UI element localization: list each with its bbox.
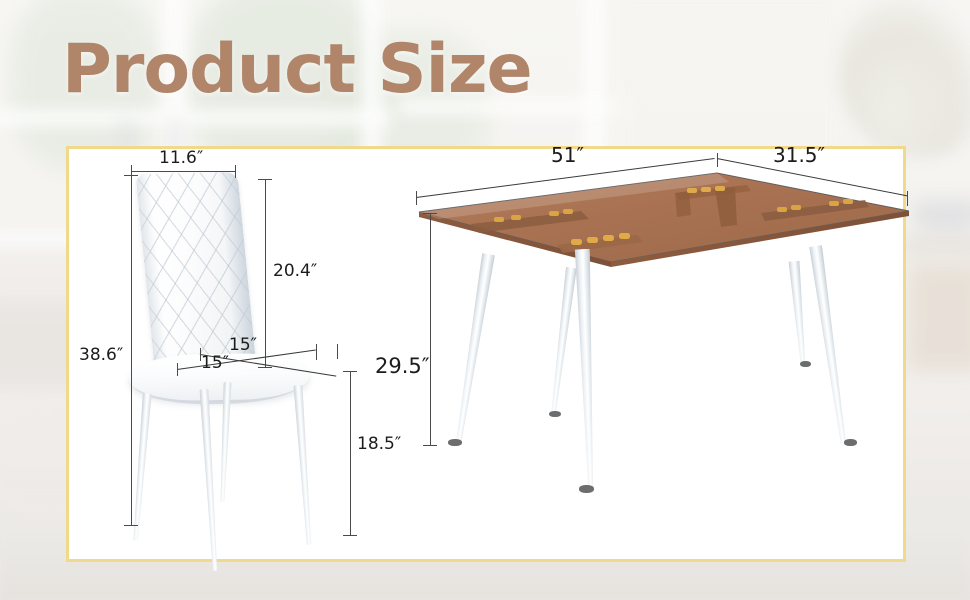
- table-illustration: 51″ 31.5″ 29.5″: [399, 149, 909, 565]
- background-bench-right: [906, 262, 970, 372]
- chair-backheight-tick-top: [258, 179, 272, 180]
- chair-seatdepth-tick-right: [337, 344, 338, 359]
- chair-totalheight-label: 38.6″: [79, 345, 123, 365]
- chair-backheight-label: 20.4″: [273, 261, 317, 281]
- background-table-right: [900, 236, 970, 256]
- chair-totalheight-tick-top: [124, 175, 138, 176]
- chair-width-dimension-line: [131, 171, 235, 172]
- chair-width-label: 11.6″: [159, 148, 203, 168]
- chair-seatheight-label: 18.5″: [357, 434, 401, 454]
- table-height-label: 29.5″: [375, 354, 430, 378]
- table-height-tick-bottom: [423, 445, 437, 446]
- chair-seatheight-tick-bottom: [343, 535, 357, 536]
- table-foot-back-left: [549, 411, 561, 417]
- chair-leg-front-right: [199, 389, 219, 571]
- chair-backheight-dimension-line: [265, 179, 266, 367]
- product-size-graphic: Product Size: [0, 0, 970, 600]
- chair-seatwidth-label: 15″: [201, 353, 229, 373]
- chair-leg-front-left: [131, 393, 152, 541]
- table-length-tick-left: [416, 191, 417, 205]
- table-foot-front-center: [579, 485, 594, 493]
- page-title: Product Size: [62, 36, 532, 104]
- chair-totalheight-dimension-line: [131, 175, 132, 525]
- chair-seatwidth-tick-left: [177, 363, 178, 376]
- table-height-dimension-line: [430, 213, 431, 445]
- table-width-label: 31.5″: [773, 143, 825, 167]
- product-size-panel: 11.6″ 20.4″ 38.6″ 15″ 15″: [66, 146, 906, 562]
- chair-backheight-tick-bottom: [258, 367, 272, 368]
- chair-seatheight-tick-top: [343, 371, 357, 372]
- table-width-tick-left: [717, 153, 718, 167]
- chair-seatdepth-label: 15″: [229, 335, 257, 355]
- chair-leg-back-right: [293, 385, 313, 545]
- pampas-grass-2: [888, 20, 970, 140]
- table-length-label: 51″: [551, 143, 584, 167]
- table-height-tick-top: [423, 213, 437, 214]
- table-width-tick-right: [907, 191, 908, 206]
- chair-seatheight-dimension-line: [350, 371, 351, 535]
- table-foot-back-right: [800, 361, 811, 367]
- chair-seatwidth-tick-right: [316, 344, 317, 360]
- table-foot-front-left: [448, 439, 462, 446]
- window-transom-1: [0, 110, 390, 126]
- chair-totalheight-tick-bottom: [124, 525, 138, 526]
- table-foot-right: [844, 439, 857, 446]
- chair-width-tick-right: [235, 165, 236, 178]
